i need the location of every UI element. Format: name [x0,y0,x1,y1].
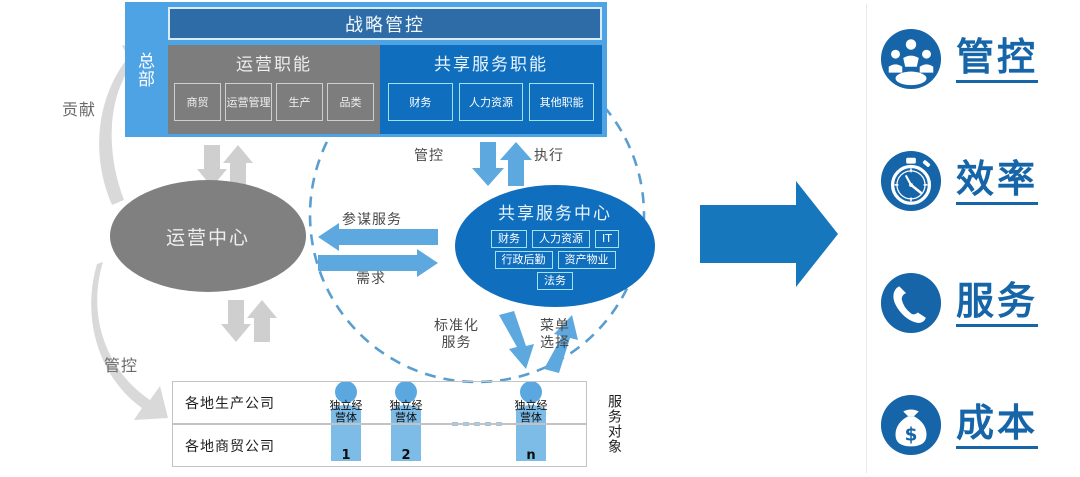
strategy-control-bar: 战略管控 [168,7,602,40]
advisory-service-label: 参谋服务 [342,209,402,229]
service-target-label: 服务对象 [600,381,624,467]
shared-service-center-node[interactable]: 共享服务中心 财务 人力资源 IT 行政后勤 资产物业 法务 [455,185,655,307]
execute-up-label: 执行 [534,145,564,165]
shared-chip[interactable]: 其他职能 [529,83,594,121]
ops-chip[interactable]: 生产 [276,83,323,121]
headquarters-label: 总部 [128,40,154,100]
table-row-label: 各地商贸公司 [173,436,275,456]
contribution-label: 贡献 [62,96,96,120]
outcome-item-label: 服务 [956,279,1038,327]
operations-center-node[interactable]: 运营中心 [110,180,306,292]
ssc-chip[interactable]: 财务 [491,230,527,248]
standard-service-line1: 标准化 [434,318,479,335]
shared-service-center-title: 共享服务中心 [455,199,655,224]
outcome-arrow [700,181,838,287]
ssc-chip[interactable]: 法务 [537,272,573,290]
ssc-row: 法务 [455,272,655,290]
shared-service-function-chips: 财务 人力资源 其他职能 [388,83,594,121]
operations-function-title: 运营职能 [168,50,380,75]
panel-divider [866,4,867,473]
outcome-item-service[interactable]: 服务 [872,266,1080,340]
entity-figure-number: 2 [386,448,426,463]
ssc-chip[interactable]: 人力资源 [532,230,590,248]
menu-select-line2: 选择 [540,335,570,352]
outcome-item-label: 成本 [956,401,1038,449]
ssc-chip[interactable]: 行政后勤 [495,251,553,269]
outcome-item-label: 效率 [956,157,1038,205]
shared-service-function-box: 共享服务职能 财务 人力资源 其他职能 [380,45,602,134]
control-down-label: 管控 [414,145,444,165]
menu-select-line1: 菜单 [540,318,570,335]
entity-figure-label: 独立经营体 [326,400,366,424]
control-execute-arrows [472,142,532,186]
entity-figure-label: 独立经营体 [511,400,551,424]
shared-service-function-title: 共享服务职能 [380,50,602,75]
shared-chip[interactable]: 财务 [388,83,453,121]
svg-text:$: $ [905,425,918,446]
ssc-row: 行政后勤 资产物业 [455,251,655,269]
ops-chip[interactable]: 运营管理 [225,83,272,121]
shared-chip[interactable]: 人力资源 [459,83,524,121]
ssc-chip[interactable]: IT [595,230,619,248]
entity-figure-number: n [511,448,551,463]
table-row-label: 各地生产公司 [173,393,275,413]
menu-select-label: 菜单 选择 [540,318,570,352]
standard-service-label: 标准化 服务 [434,318,479,352]
entity-figure-label: 独立经营体 [386,400,426,424]
outcome-item-cost[interactable]: $ 成本 [872,388,1080,462]
money-bag-icon: $ [880,394,942,456]
ops-bottom-arrows [221,300,277,342]
outcome-item-efficiency[interactable]: 效率 [872,144,1080,218]
operations-function-chips: 商贸 运营管理 生产 品类 [174,83,374,121]
outcome-item-control[interactable]: 管控 [872,22,1080,96]
entity-figure-number: 1 [326,448,366,463]
outcome-panel: 管控 效率 服务 [872,0,1080,477]
stopwatch-icon [880,150,942,212]
control-arrow-left [91,262,168,420]
phone-icon [880,272,942,334]
ssc-row: 财务 人力资源 IT [455,230,655,248]
ops-chip[interactable]: 商贸 [174,83,221,121]
control-left-label: 管控 [104,352,138,376]
diagram-canvas: 总部 战略管控 运营职能 商贸 运营管理 生产 品类 共享服务职能 财务 人力资… [0,0,1080,477]
standard-service-line2: 服务 [434,335,479,352]
people-team-icon [880,28,942,90]
ssc-chip[interactable]: 资产物业 [558,251,616,269]
ops-chip[interactable]: 品类 [327,83,374,121]
demand-label: 需求 [356,268,386,288]
outcome-item-label: 管控 [956,35,1038,83]
operations-function-box: 运营职能 商贸 运营管理 生产 品类 [168,45,380,134]
